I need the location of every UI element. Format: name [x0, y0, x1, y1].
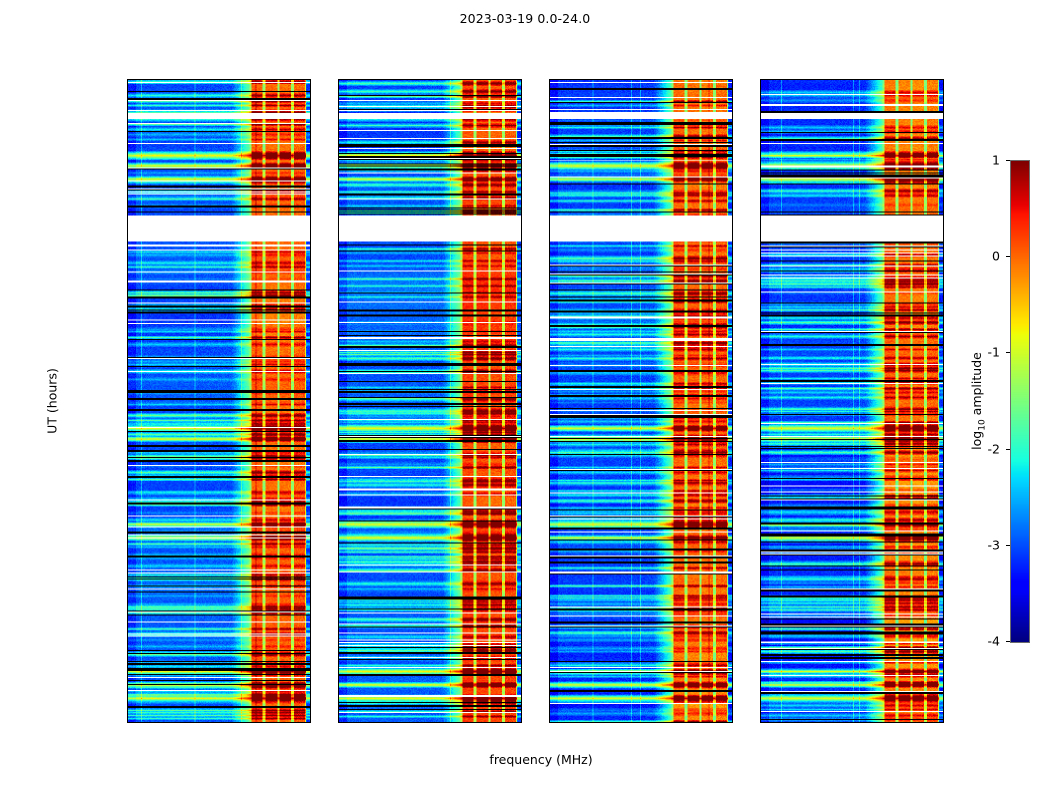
y-tick-mark [549, 722, 550, 723]
y-tick-mark [760, 187, 761, 188]
y-axis-label: UT (hours) [45, 368, 60, 434]
colorbar-tick-label: -2 [988, 441, 1000, 456]
y-tick-mark [338, 722, 339, 723]
x-tick-mark [556, 722, 557, 723]
figure-canvas: 2023-03-19 0.0-24.0 XX, V1*V10=EA04*EA11… [0, 0, 1050, 800]
x-tick-mark [345, 722, 346, 723]
spectrogram-yx [761, 80, 943, 722]
y-tick-mark [549, 321, 550, 322]
y-tick-mark [338, 187, 339, 188]
y-tick-mark [760, 321, 761, 322]
panel-yy: YY, V1*V10=EA04*EA11 3203353503653800510… [338, 79, 522, 723]
colorbar-label-sub: 10 [977, 419, 987, 430]
colorbar-tick-label: -1 [988, 345, 1000, 360]
y-tick-mark [338, 321, 339, 322]
colorbar-label-main: log [969, 431, 984, 450]
x-tick-mark [640, 722, 641, 723]
colorbar-tick-label: 1 [992, 153, 1000, 168]
x-tick-mark [429, 722, 430, 723]
colorbar-tick-mark [1006, 545, 1010, 546]
x-tick-mark [935, 722, 936, 723]
y-tick-mark [549, 455, 550, 456]
figure-suptitle: 2023-03-19 0.0-24.0 [0, 11, 1050, 26]
y-tick-mark [127, 722, 128, 723]
y-tick-mark [760, 588, 761, 589]
y-tick-mark [127, 455, 128, 456]
colorbar-tick-mark [1006, 352, 1010, 353]
y-tick-mark [338, 455, 339, 456]
panel-xy: XY, V1*V10=EA04*EA11 3203353503653800510… [549, 79, 733, 723]
y-tick-mark [338, 588, 339, 589]
y-tick-mark [549, 588, 550, 589]
spectrogram-xx [128, 80, 310, 722]
colorbar-tick-label: 0 [992, 249, 1000, 264]
colorbar-label-tail: amplitude [969, 352, 984, 419]
panel-yx: YX, V1*V10=EA04*EA11 3203353503653800510… [760, 79, 944, 723]
x-tick-mark [218, 722, 219, 723]
x-tick-mark [513, 722, 514, 723]
y-tick-mark [127, 321, 128, 322]
x-tick-mark [767, 722, 768, 723]
y-tick-mark [760, 455, 761, 456]
y-tick-mark [127, 588, 128, 589]
x-axis-label: frequency (MHz) [489, 752, 592, 767]
x-tick-mark [176, 722, 177, 723]
spectrogram-yy [339, 80, 521, 722]
colorbar [1010, 160, 1030, 643]
x-tick-mark [809, 722, 810, 723]
colorbar-tick-mark [1006, 256, 1010, 257]
x-tick-mark [598, 722, 599, 723]
x-tick-mark [682, 722, 683, 723]
colorbar-tick-mark [1006, 449, 1010, 450]
colorbar-tick-label: -4 [988, 634, 1000, 649]
x-tick-mark [893, 722, 894, 723]
x-tick-mark [851, 722, 852, 723]
y-tick-mark [549, 187, 550, 188]
colorbar-tick-mark [1006, 160, 1010, 161]
y-tick-mark [760, 722, 761, 723]
colorbar-tick-label: -3 [988, 537, 1000, 552]
y-tick-mark [127, 187, 128, 188]
colorbar-tick-mark [1006, 641, 1010, 642]
panel-xx: XX, V1*V10=EA04*EA11 3203353503653800510… [127, 79, 311, 723]
spectrogram-xy [550, 80, 732, 722]
x-tick-mark [724, 722, 725, 723]
x-tick-mark [387, 722, 388, 723]
x-tick-mark [302, 722, 303, 723]
x-tick-mark [134, 722, 135, 723]
x-tick-mark [471, 722, 472, 723]
x-tick-mark [260, 722, 261, 723]
colorbar-label: log10 amplitude [969, 352, 988, 450]
